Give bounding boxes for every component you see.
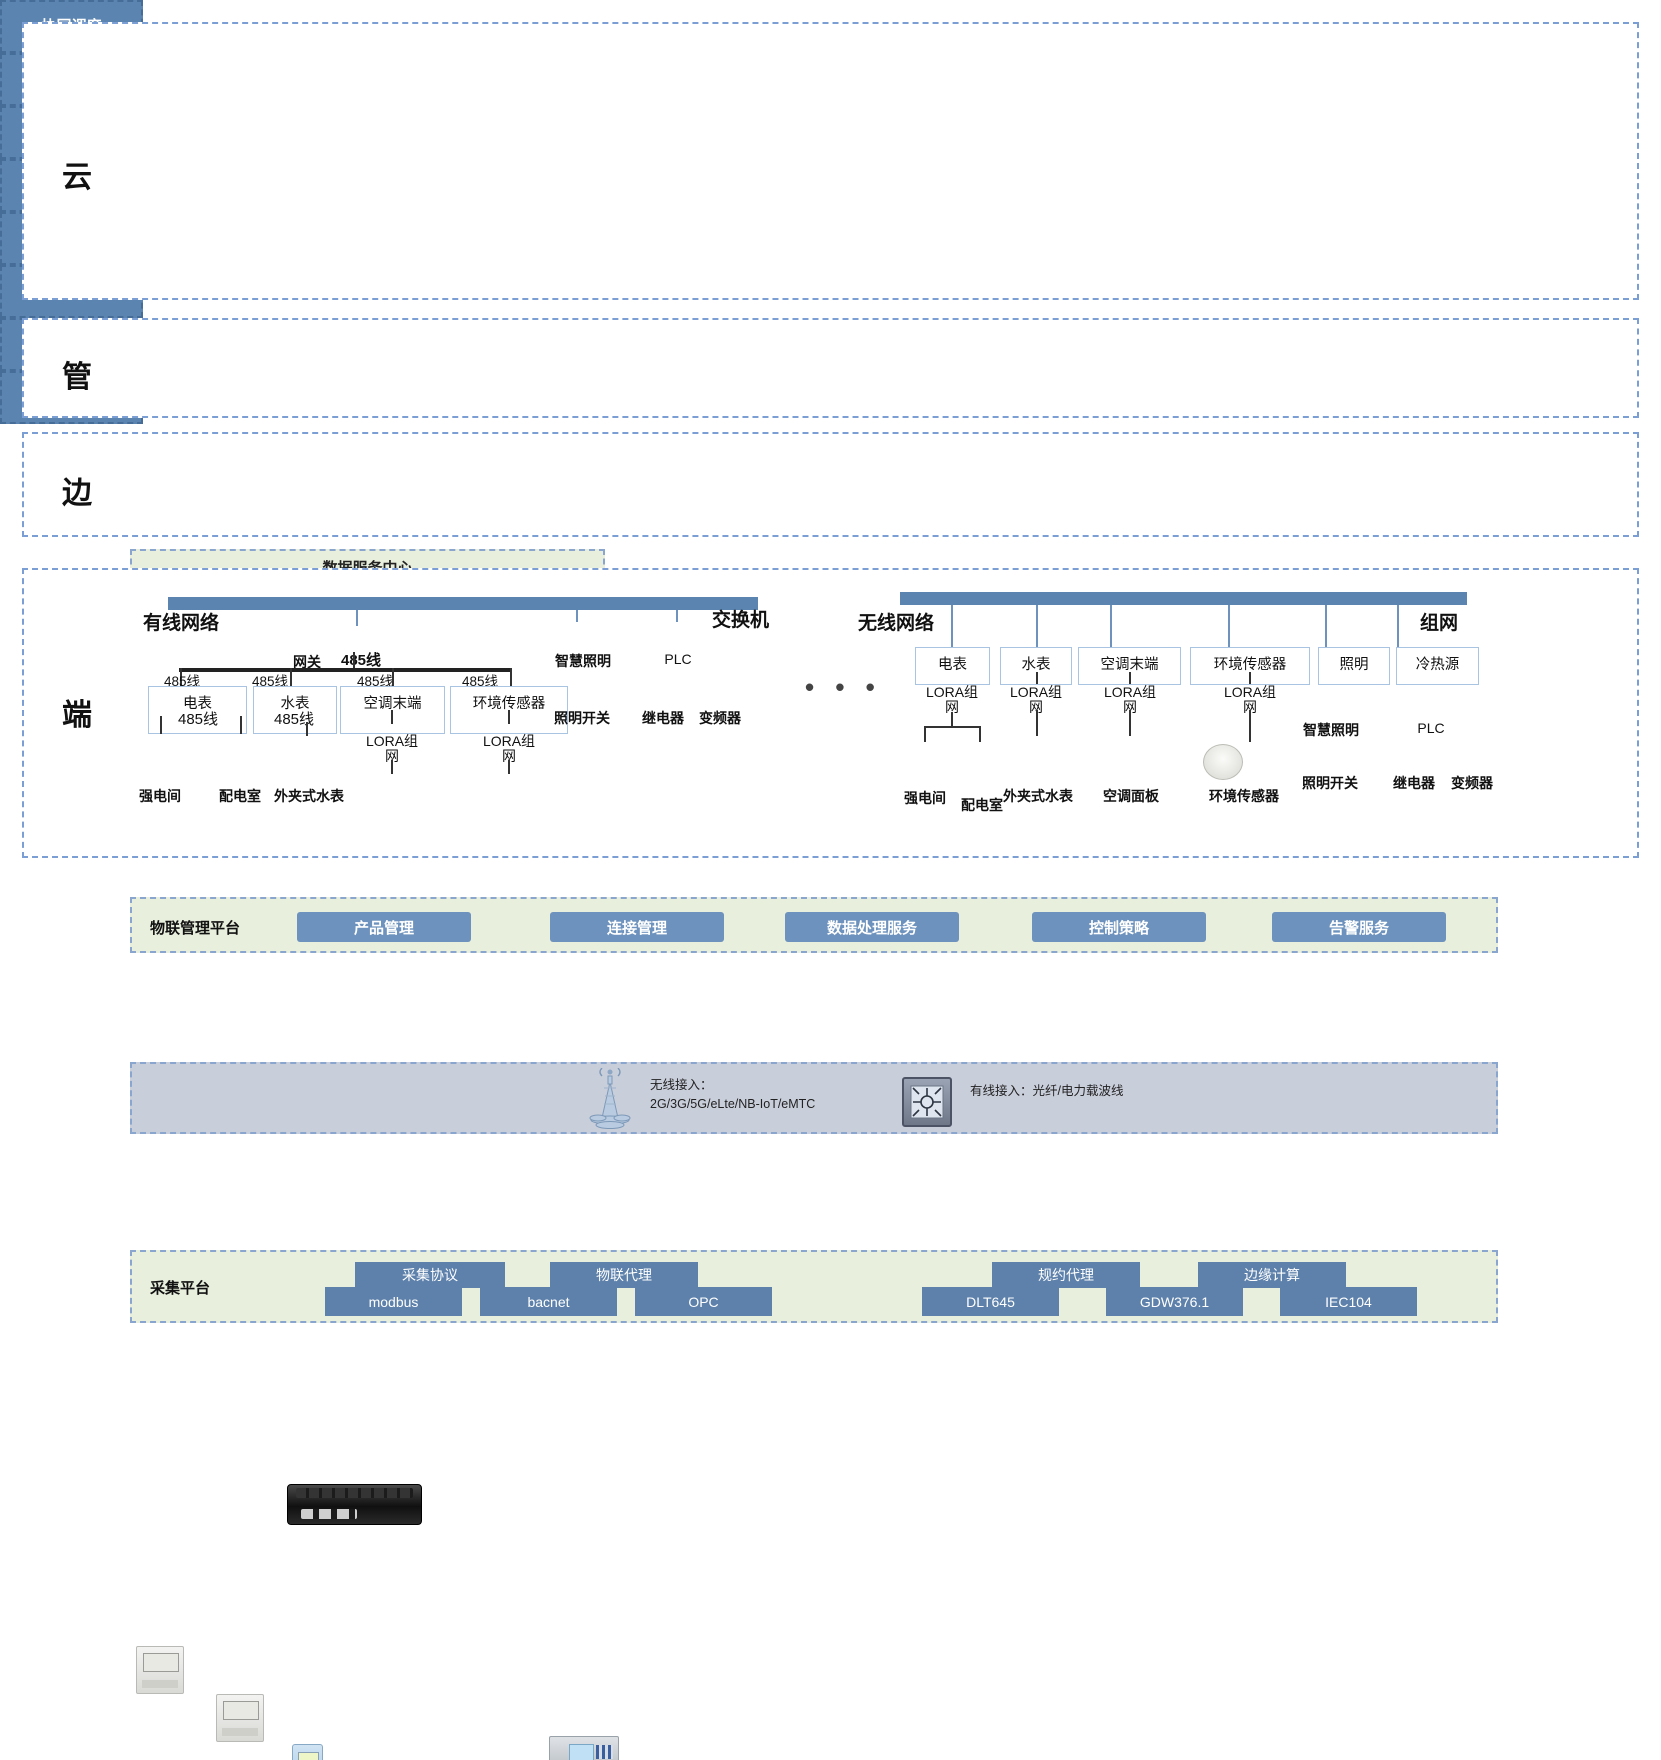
bus-drop-line bbox=[676, 610, 678, 622]
bus-drop-line bbox=[356, 610, 358, 626]
pipe-access-panel: 无线接入： 2G/3G/5G/eLte/NB-IoT/eMTC 有线接入：光纤/… bbox=[130, 1062, 1498, 1134]
wired-bus-label: 485线 bbox=[333, 649, 389, 670]
wired-lora-label-ac: LORA组网 bbox=[360, 734, 424, 763]
wireless-water-stem bbox=[1036, 710, 1038, 736]
wired-device-caption: 强电间 bbox=[130, 786, 190, 806]
iot-platform-chip[interactable]: 告警服务 bbox=[1272, 912, 1446, 942]
radio-tower-icon bbox=[582, 1068, 638, 1132]
iot-platform-chip[interactable]: 数据处理服务 bbox=[785, 912, 959, 942]
iot-platform-chip-label: 产品管理 bbox=[354, 917, 414, 938]
wired-access-text: 有线接入：光纤/电力载波线 bbox=[970, 1082, 1140, 1101]
electric-meter-icon bbox=[136, 1646, 184, 1694]
edge-protocol-chip[interactable]: OPC bbox=[635, 1287, 772, 1316]
wireless-drop-line bbox=[1036, 605, 1038, 647]
wireless-drop-line bbox=[951, 605, 953, 647]
edge-protocol-label: IEC104 bbox=[1325, 1294, 1372, 1310]
wireless-network-label: 组网 bbox=[1420, 608, 1458, 635]
wireless-drop-line bbox=[1110, 605, 1112, 647]
wireless-meter-branch bbox=[979, 726, 981, 742]
gateway-drop-line bbox=[353, 652, 355, 668]
wireless-device-box-hvac-source[interactable]: 冷热源 bbox=[1396, 647, 1479, 685]
iot-platform-panel: 物联管理平台 产品管理 连接管理 数据处理服务 控制策略 告警服务 bbox=[130, 897, 1498, 953]
switch-label: 交换机 bbox=[712, 605, 769, 632]
wireless-device-caption: 变频器 bbox=[1442, 773, 1502, 793]
wired-right-caption: 变频器 bbox=[690, 708, 750, 728]
iot-platform-chip-label: 告警服务 bbox=[1329, 917, 1389, 938]
edge-protocol-chip[interactable]: modbus bbox=[325, 1287, 462, 1316]
wired-sub-label-485a: 485线 bbox=[167, 708, 229, 729]
wireless-device-caption: 智慧照明 bbox=[1298, 720, 1364, 740]
edge-group-chip[interactable]: 物联代理 bbox=[550, 1262, 698, 1288]
smart-lighting-icon bbox=[549, 1736, 619, 1760]
wireless-device-caption: 空调面板 bbox=[1095, 786, 1167, 806]
wired-network-bus bbox=[168, 597, 758, 610]
iot-platform-chip-label: 数据处理服务 bbox=[827, 917, 917, 938]
edge-protocol-label: bacnet bbox=[527, 1294, 569, 1310]
smoke-detector-icon bbox=[1203, 744, 1243, 780]
rs485-drop-line bbox=[510, 668, 512, 688]
lora-line-sensor bbox=[508, 710, 510, 724]
wired-lora-label-sensor: LORA组网 bbox=[477, 734, 541, 763]
gateway-icon bbox=[287, 1484, 422, 1525]
iot-platform-chip[interactable]: 连接管理 bbox=[550, 912, 724, 942]
wireless-network-title: 无线网络 bbox=[858, 608, 934, 635]
wireless-lora-label: LORA组网 bbox=[920, 685, 984, 714]
electric-meter-icon bbox=[216, 1694, 264, 1742]
iot-platform-title: 物联管理平台 bbox=[150, 917, 240, 938]
wired-network-title: 有线网络 bbox=[143, 608, 219, 635]
wireless-device-box-label: 照明 bbox=[1340, 653, 1369, 674]
iot-platform-chip-label: 控制策略 bbox=[1089, 917, 1149, 938]
wired-right-caption: 智慧照明 bbox=[549, 651, 617, 671]
wireless-device-box-label: 电表 bbox=[938, 653, 967, 674]
wireless-drop-line bbox=[1325, 605, 1327, 647]
wireless-device-box-label: 水表 bbox=[1022, 653, 1051, 674]
wireless-device-caption: 继电器 bbox=[1383, 773, 1445, 793]
cloud-layer-label: 云 bbox=[62, 152, 93, 196]
device-layer-label: 端 bbox=[62, 690, 93, 734]
wireless-device-box-meter[interactable]: 电表 bbox=[915, 647, 990, 685]
edge-layer-label: 边 bbox=[62, 468, 93, 512]
edge-platform-title: 采集平台 bbox=[150, 1277, 210, 1298]
wireless-lora-line bbox=[1249, 672, 1251, 684]
wireless-device-box-label: 环境传感器 bbox=[1214, 653, 1287, 674]
wired-network-icon bbox=[902, 1077, 952, 1127]
wireless-device-caption: 外夹式水表 bbox=[998, 786, 1078, 806]
iot-platform-chip-label: 连接管理 bbox=[607, 917, 667, 938]
edge-protocol-label: DLT645 bbox=[966, 1294, 1015, 1310]
iot-platform-chip[interactable]: 控制策略 bbox=[1032, 912, 1206, 942]
cloud-layer bbox=[22, 22, 1639, 300]
wired-right-caption: 继电器 bbox=[632, 708, 694, 728]
edge-layer bbox=[22, 432, 1639, 537]
wireless-device-caption: PLC bbox=[1398, 720, 1464, 736]
edge-protocol-label: GDW376.1 bbox=[1140, 1294, 1209, 1310]
wireless-meter-branch bbox=[924, 726, 926, 742]
wireless-device-box-lighting[interactable]: 照明 bbox=[1318, 647, 1390, 685]
water-drop-line bbox=[306, 722, 308, 736]
wireless-ac-stem bbox=[1129, 710, 1131, 736]
section-separator-dots: • • • bbox=[805, 672, 882, 703]
wireless-sensor-stem bbox=[1249, 710, 1251, 742]
meter-drop-line bbox=[240, 716, 242, 734]
edge-protocol-chip[interactable]: GDW376.1 bbox=[1106, 1287, 1243, 1316]
edge-protocol-label: modbus bbox=[369, 1294, 419, 1310]
wired-right-caption: 照明开关 bbox=[545, 708, 619, 728]
edge-group-chip[interactable]: 采集协议 bbox=[355, 1262, 505, 1288]
bus-drop-line bbox=[576, 610, 578, 622]
lora-line-ac bbox=[391, 710, 393, 724]
wireless-drop-line bbox=[1397, 605, 1399, 647]
wireless-meter-stem bbox=[951, 712, 953, 726]
wireless-device-box-label: 冷热源 bbox=[1416, 653, 1460, 674]
wireless-network-bus bbox=[900, 592, 1467, 605]
meter-drop-line bbox=[160, 716, 162, 734]
edge-protocol-label: OPC bbox=[688, 1294, 718, 1310]
pipe-layer-label: 管 bbox=[62, 352, 93, 396]
edge-group-label: 边缘计算 bbox=[1244, 1265, 1300, 1285]
edge-group-label: 物联代理 bbox=[596, 1265, 652, 1285]
wireless-lora-line bbox=[1129, 672, 1131, 684]
water-meter-icon bbox=[292, 1744, 323, 1760]
pipe-layer bbox=[22, 318, 1639, 418]
wireless-device-caption: 环境传感器 bbox=[1198, 786, 1290, 806]
lora-line-ac-low bbox=[391, 760, 393, 774]
wireless-device-box-label: 空调末端 bbox=[1101, 653, 1159, 674]
iot-platform-chip[interactable]: 产品管理 bbox=[297, 912, 471, 942]
edge-group-chip[interactable]: 规约代理 bbox=[992, 1262, 1140, 1288]
edge-protocol-chip[interactable]: DLT645 bbox=[922, 1287, 1059, 1316]
edge-protocol-chip[interactable]: bacnet bbox=[480, 1287, 617, 1316]
edge-protocol-chip[interactable]: IEC104 bbox=[1280, 1287, 1417, 1316]
wireless-meter-bracket bbox=[924, 726, 980, 728]
wired-device-caption: 配电室 bbox=[210, 786, 270, 806]
edge-group-chip[interactable]: 边缘计算 bbox=[1198, 1262, 1346, 1288]
wired-sub-label-485b: 485线 bbox=[263, 708, 325, 729]
edge-collect-panel: 采集平台 采集协议 物联代理 规约代理 边缘计算 modbus bacnet O… bbox=[130, 1250, 1498, 1323]
wireless-lora-line bbox=[1036, 672, 1038, 684]
lora-line-sensor-low bbox=[508, 760, 510, 774]
edge-group-label: 规约代理 bbox=[1038, 1265, 1094, 1285]
wireless-drop-line bbox=[1228, 605, 1230, 647]
wireless-access-text: 无线接入： 2G/3G/5G/eLte/NB-IoT/eMTC bbox=[650, 1076, 825, 1115]
wireless-device-caption: 照明开关 bbox=[1293, 773, 1367, 793]
wired-device-caption: 外夹式水表 bbox=[272, 786, 346, 806]
edge-group-label: 采集协议 bbox=[402, 1265, 458, 1285]
wired-right-caption: PLC bbox=[645, 651, 711, 667]
wireless-device-caption: 强电间 bbox=[895, 788, 955, 808]
